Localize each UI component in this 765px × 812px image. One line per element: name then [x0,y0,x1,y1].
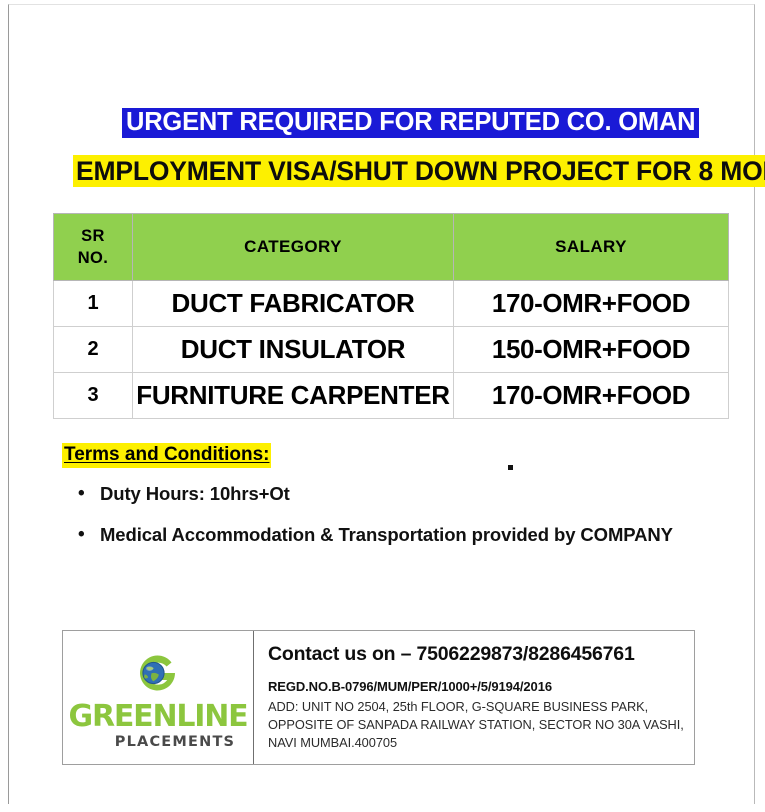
logo-cell: GREENLINE PLACEMENTS [63,631,254,764]
headline-primary: URGENT REQUIRED FOR REPUTED CO. OMAN [122,108,699,138]
sr-head-line2: NO. [54,247,132,269]
contact-box: GREENLINE PLACEMENTS Contact us on – 750… [62,630,695,765]
contact-phone-line: Contact us on – 7506229873/8286456761 [268,643,686,666]
table-header-row: SR NO. CATEGORY SALARY [54,214,729,281]
contact-address: ADD: UNIT NO 2504, 25th FLOOR, G-SQUARE … [268,698,686,752]
column-header-category: CATEGORY [133,214,454,281]
terms-list: Duty Hours: 10hrs+Ot Medical Accommodati… [74,480,680,561]
jobs-table: SR NO. CATEGORY SALARY 1 DUCT FABRICATOR… [53,213,729,419]
cell-category: DUCT FABRICATOR [133,281,454,327]
terms-and-conditions-heading: Terms and Conditions: [62,443,271,468]
cell-salary: 170-OMR+FOOD [454,373,729,419]
cell-sr: 1 [54,281,133,327]
list-item: Medical Accommodation & Transportation p… [100,521,680,550]
stray-dot-artifact [508,465,513,470]
greenline-globe-logo-icon [127,649,189,701]
table-row: 3 FURNITURE CARPENTER 170-OMR+FOOD [54,373,729,419]
cell-sr: 3 [54,373,133,419]
headline-secondary: EMPLOYMENT VISA/SHUT DOWN PROJECT FOR 8 … [73,155,765,187]
contact-registration-number: REGD.NO.B-0796/MUM/PER/1000+/5/9194/2016 [268,679,686,694]
list-item: Duty Hours: 10hrs+Ot [100,480,680,509]
column-header-sr-no: SR NO. [54,214,133,281]
contact-details: Contact us on – 7506229873/8286456761 RE… [254,631,694,764]
cell-salary: 150-OMR+FOOD [454,327,729,373]
cell-sr: 2 [54,327,133,373]
cell-category: DUCT INSULATOR [133,327,454,373]
cell-salary: 170-OMR+FOOD [454,281,729,327]
cell-category: FURNITURE CARPENTER [133,373,454,419]
column-header-salary: SALARY [454,214,729,281]
logo-subtext: PLACEMENTS [115,735,235,750]
sr-head-line1: SR [54,225,132,247]
table-row: 2 DUCT INSULATOR 150-OMR+FOOD [54,327,729,373]
logo-wordmark: GREENLINE [69,702,248,732]
table-row: 1 DUCT FABRICATOR 170-OMR+FOOD [54,281,729,327]
